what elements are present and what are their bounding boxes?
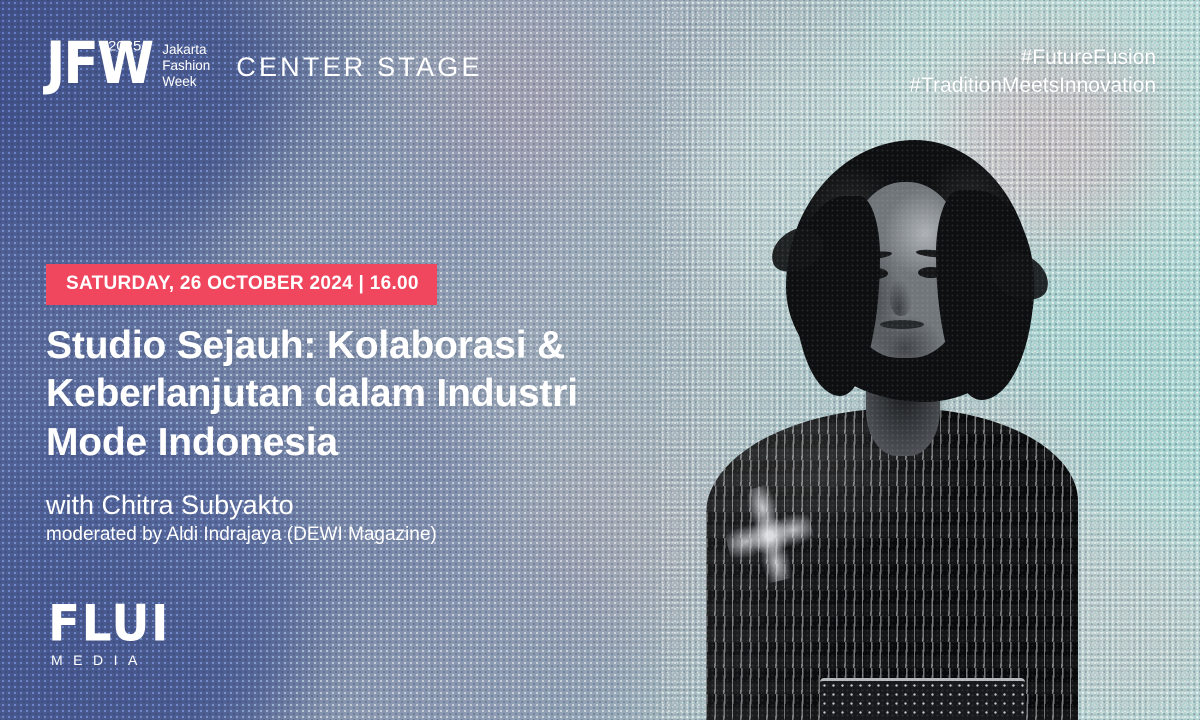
speaker-portrait <box>690 78 1090 720</box>
jfw-logo-year: 2025 <box>108 39 141 54</box>
session-title-line-1: Studio Sejauh: Kolaborasi & <box>46 322 666 370</box>
event-banner: JFW 2025 Jakarta Fashion Week CENTER STA… <box>0 0 1200 720</box>
session-title-line-2: Keberlanjutan dalam Industri <box>46 370 666 418</box>
flui-logo-mark: FLUI <box>48 601 170 647</box>
session-title-line-3: Mode Indonesia <box>46 419 666 467</box>
hashtag-block: #FutureFusion #TraditionMeetsInnovation <box>909 44 1156 99</box>
moderator-name: moderated by Aldi Indrajaya (DEWI Magazi… <box>46 523 706 547</box>
portrait-nose <box>890 278 912 316</box>
session-details: SATURDAY, 26 OCTOBER 2024 | 16.00 Studio… <box>46 264 706 547</box>
banner-header: JFW 2025 Jakarta Fashion Week CENTER STA… <box>46 42 483 93</box>
date-time-badge: SATURDAY, 26 OCTOBER 2024 | 16.00 <box>46 264 437 305</box>
flui-media-logo: FLUI MEDIA <box>48 604 170 668</box>
flui-logo-subtitle: MEDIA <box>48 652 170 668</box>
jfw-logo: JFW 2025 Jakarta Fashion Week <box>46 42 210 93</box>
jfw-logo-word-fashion: Fashion <box>162 58 210 74</box>
hashtag-tradition-meets-innovation: #TraditionMeetsInnovation <box>909 72 1156 100</box>
speaker-name: with Chitra Subyakto <box>46 489 706 521</box>
jfw-logo-word-jakarta: Jakarta <box>162 42 210 58</box>
jfw-logo-wordmark: Jakarta Fashion Week <box>162 42 210 93</box>
hashtag-future-fusion: #FutureFusion <box>909 44 1156 72</box>
jfw-logo-word-week: Week <box>162 74 210 90</box>
portrait-garment-sash <box>820 678 1025 720</box>
portrait-figure <box>690 78 1090 720</box>
program-name: CENTER STAGE <box>236 52 482 83</box>
session-title: Studio Sejauh: Kolaborasi & Keberlanjuta… <box>46 322 666 467</box>
portrait-mouth <box>880 320 924 329</box>
